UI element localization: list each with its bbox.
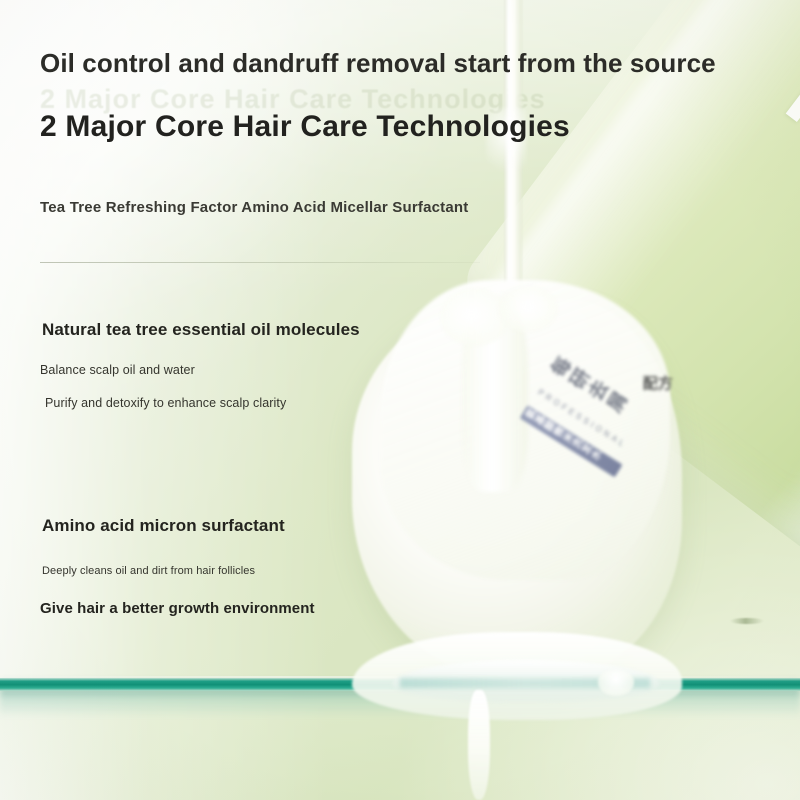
poster-text-content: Oil control and dandruff removal start f… (0, 0, 800, 800)
page-title: Oil control and dandruff removal start f… (40, 48, 716, 79)
feature-line-three: Give hair a better growth environment (40, 600, 315, 617)
feature-title: Amino acid micron surfactant (42, 516, 285, 536)
product-poster: 2 Major Core Hair Care Technologies Pote… (0, 0, 800, 800)
feature-line-two: Deeply cleans oil and dirt from hair fol… (42, 565, 255, 577)
section-divider (40, 262, 480, 263)
feature-line-two: Balance scalp oil and water (40, 363, 195, 377)
feature-title: Natural tea tree essential oil molecules (42, 320, 360, 340)
feature-line-three: Purify and detoxify to enhance scalp cla… (45, 396, 286, 410)
page-subtitle: 2 Major Core Hair Care Technologies (40, 110, 570, 144)
page-tagline: Tea Tree Refreshing Factor Amino Acid Mi… (40, 199, 468, 216)
